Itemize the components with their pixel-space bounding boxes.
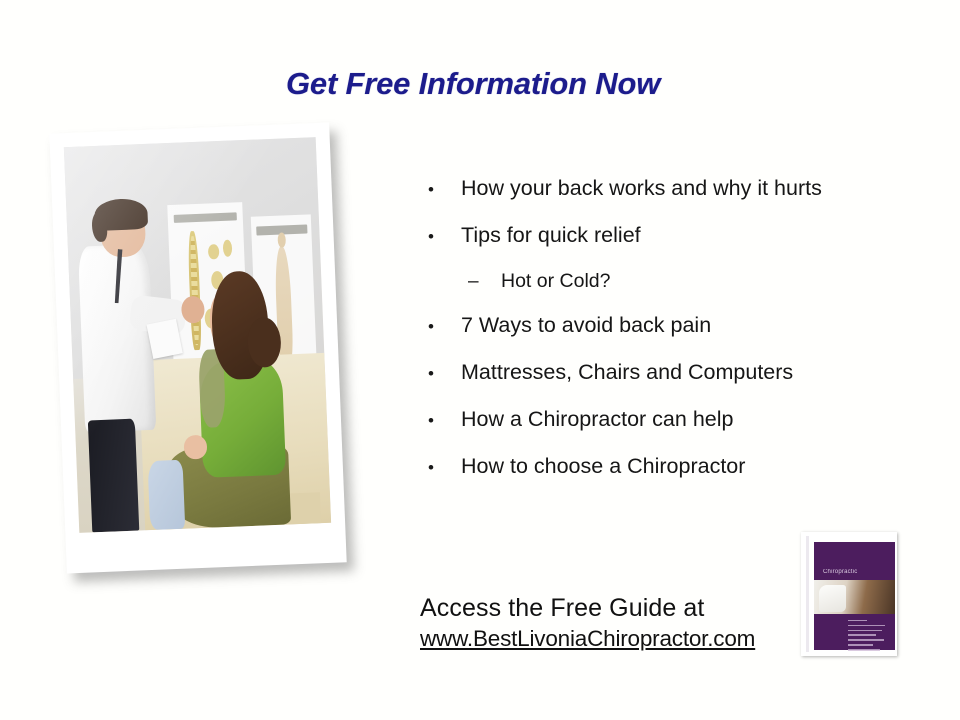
list-item-sub: – Hot or Cold? (428, 270, 938, 293)
booklet-footer-band (814, 614, 895, 650)
list-item-label: Mattresses, Chairs and Computers (461, 360, 938, 385)
list-item-label: Hot or Cold? (501, 270, 938, 293)
poster-caption-bar (173, 212, 237, 223)
patient-leg (147, 459, 185, 530)
doctor-trousers (87, 419, 139, 533)
dash-icon: – (468, 272, 501, 291)
booklet-cover: Chiropractic (806, 536, 895, 652)
photo-frame (49, 123, 346, 574)
list-item-label: How a Chiropractor can help (461, 407, 938, 432)
cta-website-link[interactable]: www.BestLivoniaChiropractor.com (420, 626, 755, 652)
booklet-line (848, 625, 885, 627)
call-to-action: Access the Free Guide at www.BestLivonia… (420, 594, 755, 652)
presentation-slide: Get Free Information Now (0, 0, 960, 720)
body-head-shape (277, 233, 285, 249)
list-item: • How your back works and why it hurts (428, 176, 938, 201)
guide-booklet-thumbnail[interactable]: Chiropractic (801, 532, 897, 656)
list-item-label: Tips for quick relief (461, 223, 938, 248)
spine-illustration (188, 231, 203, 350)
list-item: • How a Chiropractor can help (428, 407, 938, 432)
benefits-list: • How your back works and why it hurts •… (428, 176, 938, 501)
booklet-line (848, 630, 882, 632)
booklet-contents-lines (848, 620, 889, 652)
booklet-line (848, 649, 880, 651)
list-item: • 7 Ways to avoid back pain (428, 313, 938, 338)
list-item-label: How your back works and why it hurts (461, 176, 938, 201)
booklet-line (848, 644, 873, 646)
photo-image (64, 137, 331, 533)
bullet-icon: • (428, 228, 461, 245)
bullet-icon: • (428, 412, 461, 429)
cta-headline: Access the Free Guide at (420, 594, 755, 623)
booklet-title: Chiropractic (823, 569, 857, 575)
bullet-icon: • (428, 365, 461, 382)
organ-shape (208, 244, 219, 260)
patient-hands (184, 435, 208, 459)
bullet-icon: • (428, 181, 461, 198)
booklet-line (848, 634, 876, 636)
list-item-label: How to choose a Chiropractor (461, 454, 938, 479)
booklet-cover-photo (814, 580, 895, 614)
bullet-icon: • (428, 318, 461, 335)
booklet-line (848, 620, 867, 622)
list-item-label: 7 Ways to avoid back pain (461, 313, 938, 338)
page-title: Get Free Information Now (286, 66, 886, 102)
booklet-header-band: Chiropractic (814, 542, 895, 580)
bullet-icon: • (428, 459, 461, 476)
list-item: • Tips for quick relief (428, 223, 938, 248)
chiropractor-photo (49, 123, 346, 574)
list-item: • Mattresses, Chairs and Computers (428, 360, 938, 385)
organ-shape (223, 240, 233, 257)
list-item: • How to choose a Chiropractor (428, 454, 938, 479)
booklet-line (848, 639, 884, 641)
